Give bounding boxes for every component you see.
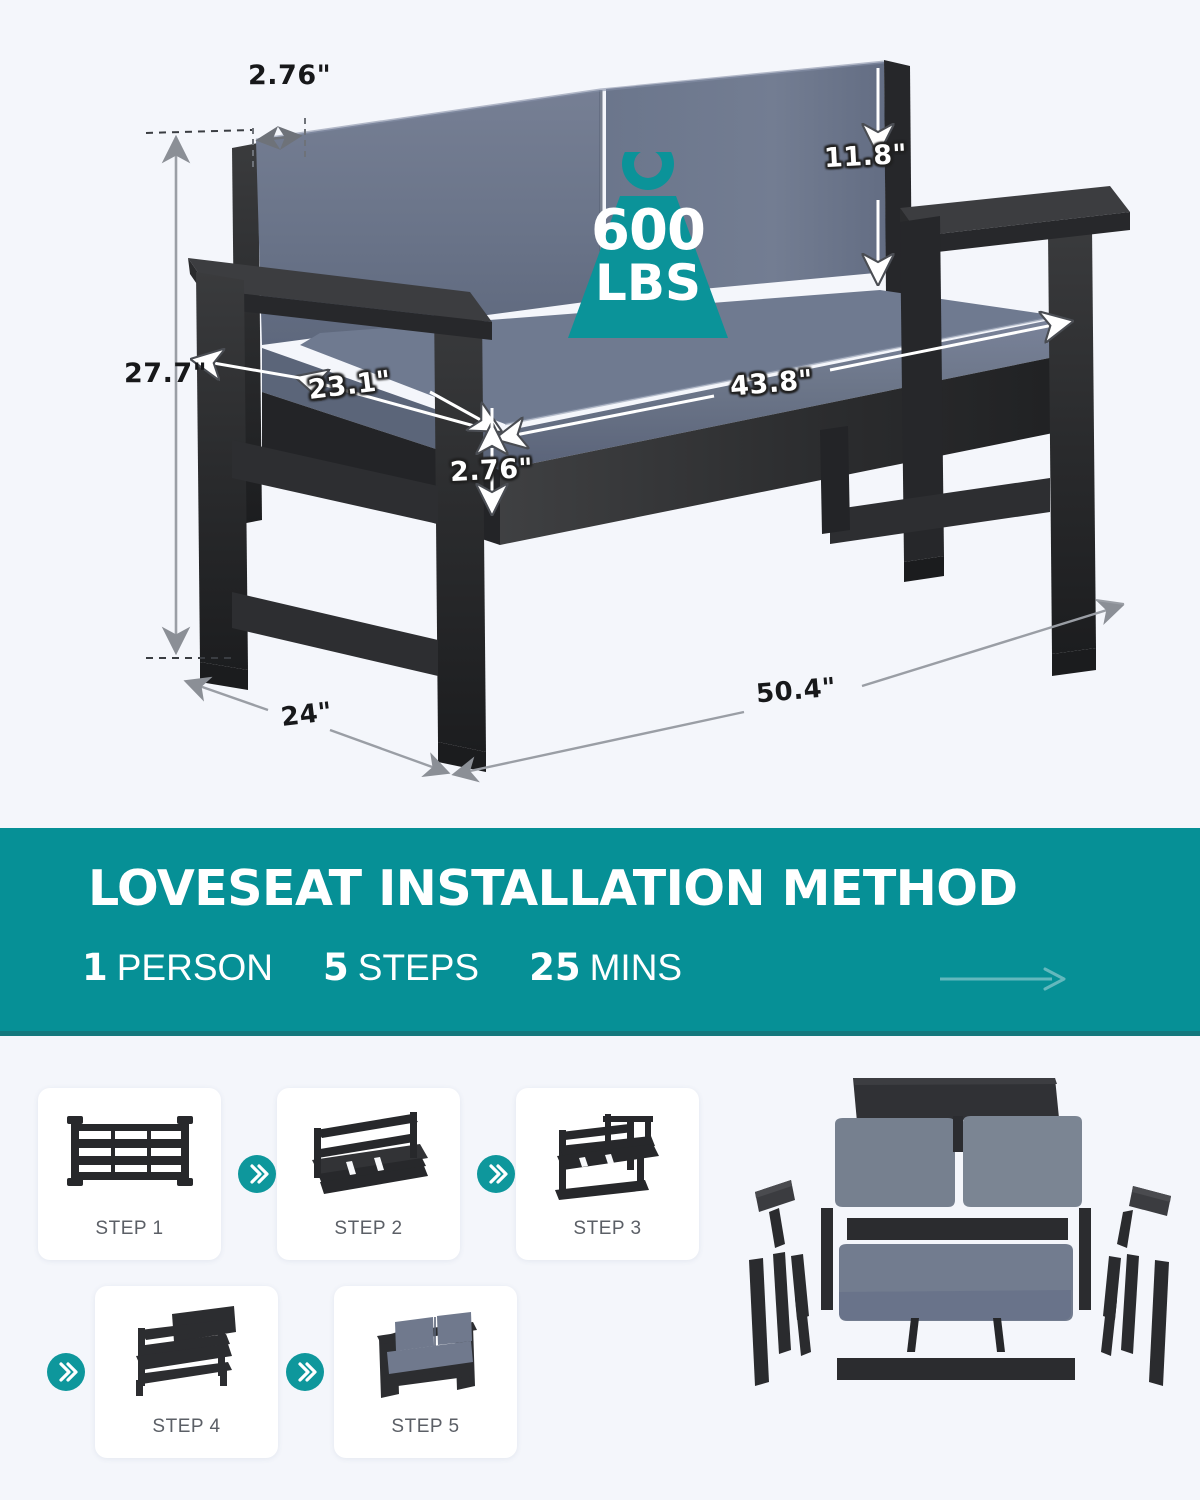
part-brace-left (795, 1296, 811, 1356)
banner-title: LOVESEAT INSTALLATION METHOD (88, 860, 1018, 917)
part-bottom-rail (837, 1358, 1075, 1380)
part-leg-rear-right (1121, 1254, 1139, 1354)
double-chevron-right-icon (286, 1353, 324, 1391)
double-chevron-right-icon (238, 1155, 276, 1193)
weight-capacity-text: 600 LBS (560, 204, 736, 308)
part-armrest-left (755, 1180, 795, 1212)
step-card-4-label: STEP 4 (152, 1416, 220, 1438)
stat-person-value: 1 (82, 946, 108, 989)
step-connector-1-to-2 (238, 1155, 276, 1193)
weight-unit: LBS (560, 259, 736, 308)
step-card-3[interactable]: STEP 3 (516, 1088, 699, 1260)
double-chevron-right-icon (47, 1353, 85, 1391)
long-arrow-right-icon (940, 962, 1070, 996)
frame-side-joined-icon (533, 1102, 683, 1214)
banner-stats: 1PERSON 5STEPS 25MINS (82, 946, 682, 989)
step-card-3-label: STEP 3 (573, 1218, 641, 1240)
dimension-label-back-cushion-height: 11.8" (823, 139, 908, 174)
step-card-5[interactable]: STEP 5 (334, 1286, 517, 1458)
frame-complete-icon (112, 1300, 262, 1412)
step-card-2[interactable]: STEP 2 (277, 1088, 460, 1260)
dimension-label-seat-cushion-thickness: 2.76" (449, 453, 534, 488)
part-stretcher-right-upper (1117, 1210, 1133, 1248)
stat-steps-value: 5 (323, 946, 349, 989)
part-stretcher-left-upper (769, 1208, 785, 1248)
loveseat-dimension-illustration (0, 0, 1200, 828)
step-connector-4-to-5 (286, 1353, 324, 1391)
weight-capacity-badge: 600 LBS (560, 152, 736, 342)
step-connector-3-to-4 (47, 1353, 85, 1391)
stat-mins-value: 25 (529, 946, 581, 989)
stat-steps: 5STEPS (323, 946, 479, 989)
dimension-label-overall-height: 27.7" (124, 358, 207, 389)
part-back-cushion-right (963, 1116, 1082, 1207)
part-post-right (1079, 1208, 1091, 1310)
step-card-5-label: STEP 5 (391, 1416, 459, 1438)
step-card-1-label: STEP 1 (95, 1218, 163, 1240)
loveseat-parts-exploded-diagram (735, 1060, 1190, 1480)
dimension-label-back-cushion-thickness: 2.76" (248, 60, 331, 91)
step-card-4[interactable]: STEP 4 (95, 1286, 278, 1458)
stat-mins-label: MINS (590, 947, 683, 988)
frame-base-assembly-icon (294, 1102, 444, 1214)
part-leg-front-left (749, 1258, 769, 1386)
frame-back-panel-icon (55, 1102, 205, 1214)
step-card-2-label: STEP 2 (334, 1218, 402, 1240)
dimension-diagram-section: 2.76" 11.8" 27.7" 23.1" 43.8" 2.76" 24" … (0, 0, 1200, 828)
double-chevron-right-icon (477, 1155, 515, 1193)
installation-steps-section: STEP 1 (0, 1036, 1200, 1500)
part-support-bar-left (907, 1318, 919, 1352)
part-leg-front-right (1149, 1260, 1169, 1386)
dimension-label-overall-depth: 24" (279, 697, 334, 733)
part-armrest-right (1129, 1186, 1171, 1216)
step-connector-2-to-3 (477, 1155, 515, 1193)
loveseat-finished-icon (351, 1300, 501, 1412)
stat-mins: 25MINS (529, 946, 682, 989)
stat-person: 1PERSON (82, 946, 273, 989)
step-card-1[interactable]: STEP 1 (38, 1088, 221, 1260)
part-post-left (821, 1208, 833, 1310)
part-back-cushion-left (835, 1118, 955, 1207)
part-front-rail (847, 1218, 1068, 1240)
installation-banner: LOVESEAT INSTALLATION METHOD 1PERSON 5ST… (0, 828, 1200, 1036)
part-brace-right (1101, 1298, 1117, 1356)
part-back-rail (853, 1078, 1059, 1122)
stat-steps-label: STEPS (358, 947, 479, 988)
stat-person-label: PERSON (117, 947, 273, 988)
part-seat-cushion (839, 1244, 1073, 1321)
weight-value: 600 (560, 204, 736, 259)
part-leg-rear-left (773, 1252, 791, 1354)
part-support-bar-right (993, 1318, 1005, 1352)
product-infographic: 2.76" 11.8" 27.7" 23.1" 43.8" 2.76" 24" … (0, 0, 1200, 1500)
